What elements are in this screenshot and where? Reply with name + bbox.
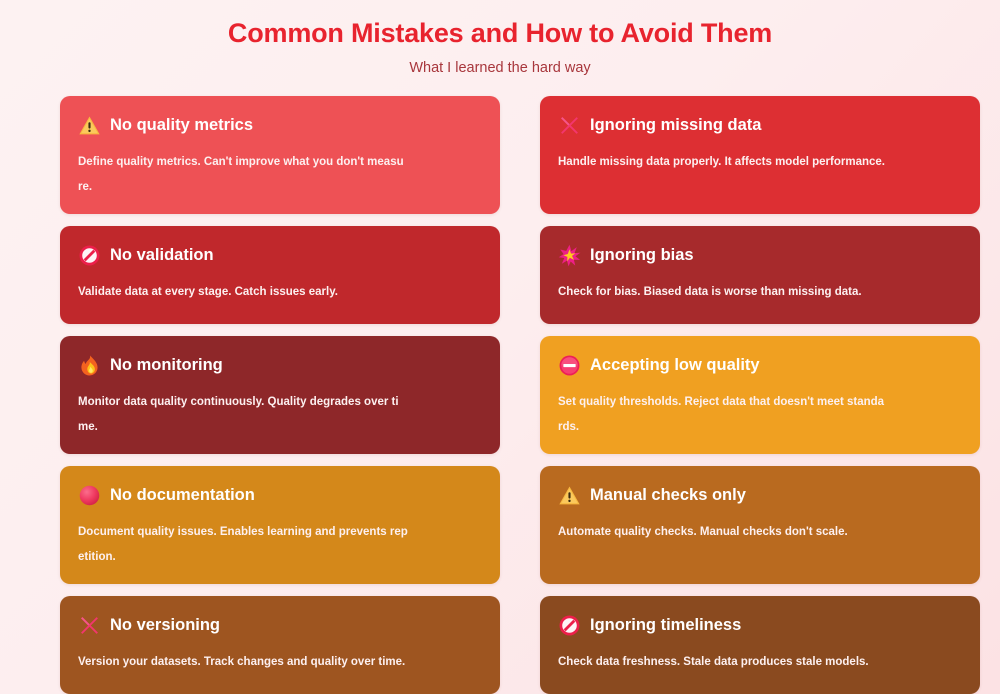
- card-title: No documentation: [110, 485, 255, 505]
- card-title: No monitoring: [110, 355, 223, 375]
- mistake-card[interactable]: No documentationDocument quality issues.…: [60, 466, 500, 584]
- warning-triangle-icon: [558, 484, 581, 507]
- card-description: Check data freshness. Stale data produce…: [558, 650, 888, 675]
- card-description: Document quality issues. Enables learnin…: [78, 520, 408, 570]
- card-title: No versioning: [110, 615, 220, 635]
- card-description: Define quality metrics. Can't improve wh…: [78, 150, 408, 200]
- page-title: Common Mistakes and How to Avoid Them: [0, 17, 1000, 49]
- card-header: No monitoring: [78, 352, 482, 378]
- fire-icon: [78, 354, 101, 377]
- card-title: Ignoring timeliness: [590, 615, 741, 635]
- mistake-card[interactable]: No validationValidate data at every stag…: [60, 226, 500, 324]
- sparkle-burst-icon: [558, 244, 581, 267]
- card-header: Ignoring missing data: [558, 112, 962, 138]
- card-header: No documentation: [78, 482, 482, 508]
- card-title: No quality metrics: [110, 115, 253, 135]
- no-entry-icon: [558, 354, 581, 377]
- card-title: Ignoring missing data: [590, 115, 761, 135]
- mistake-card[interactable]: Accepting low qualitySet quality thresho…: [540, 336, 980, 454]
- page-subtitle: What I learned the hard way: [0, 49, 1000, 77]
- card-title: No validation: [110, 245, 214, 265]
- card-title: Ignoring bias: [590, 245, 694, 265]
- warning-triangle-icon: [78, 114, 101, 137]
- prohibited-icon: [558, 614, 581, 637]
- mistakes-infographic: Common Mistakes and How to Avoid Them Wh…: [0, 0, 1000, 694]
- card-title: Accepting low quality: [590, 355, 760, 375]
- card-header: No versioning: [78, 612, 482, 638]
- card-description: Monitor data quality continuously. Quali…: [78, 390, 408, 440]
- card-header: Ignoring bias: [558, 242, 962, 268]
- card-description: Set quality thresholds. Reject data that…: [558, 390, 888, 440]
- card-description: Handle missing data properly. It affects…: [558, 150, 888, 175]
- card-header: No quality metrics: [78, 112, 482, 138]
- card-header: Accepting low quality: [558, 352, 962, 378]
- mistake-card[interactable]: No monitoringMonitor data quality contin…: [60, 336, 500, 454]
- card-description: Check for bias. Biased data is worse tha…: [558, 280, 888, 305]
- mistake-card[interactable]: Ignoring missing dataHandle missing data…: [540, 96, 980, 214]
- red-circle-icon: [78, 484, 101, 507]
- card-description: Version your datasets. Track changes and…: [78, 650, 408, 675]
- mistake-card[interactable]: No quality metricsDefine quality metrics…: [60, 96, 500, 214]
- card-description: Automate quality checks. Manual checks d…: [558, 520, 888, 545]
- mistake-card[interactable]: Ignoring biasCheck for bias. Biased data…: [540, 226, 980, 324]
- card-header: Manual checks only: [558, 482, 962, 508]
- card-description: Validate data at every stage. Catch issu…: [78, 280, 408, 305]
- card-header: Ignoring timeliness: [558, 612, 962, 638]
- card-title: Manual checks only: [590, 485, 746, 505]
- mistake-card[interactable]: No versioningVersion your datasets. Trac…: [60, 596, 500, 694]
- mistake-card[interactable]: Manual checks onlyAutomate quality check…: [540, 466, 980, 584]
- prohibited-icon: [78, 244, 101, 267]
- page-header: Common Mistakes and How to Avoid Them Wh…: [0, 0, 1000, 77]
- mistake-card[interactable]: Ignoring timelinessCheck data freshness.…: [540, 596, 980, 694]
- card-header: No validation: [78, 242, 482, 268]
- cross-mark-icon: [78, 614, 101, 637]
- mistake-cards-grid: No quality metricsDefine quality metrics…: [60, 96, 980, 694]
- cross-mark-icon: [558, 114, 581, 137]
